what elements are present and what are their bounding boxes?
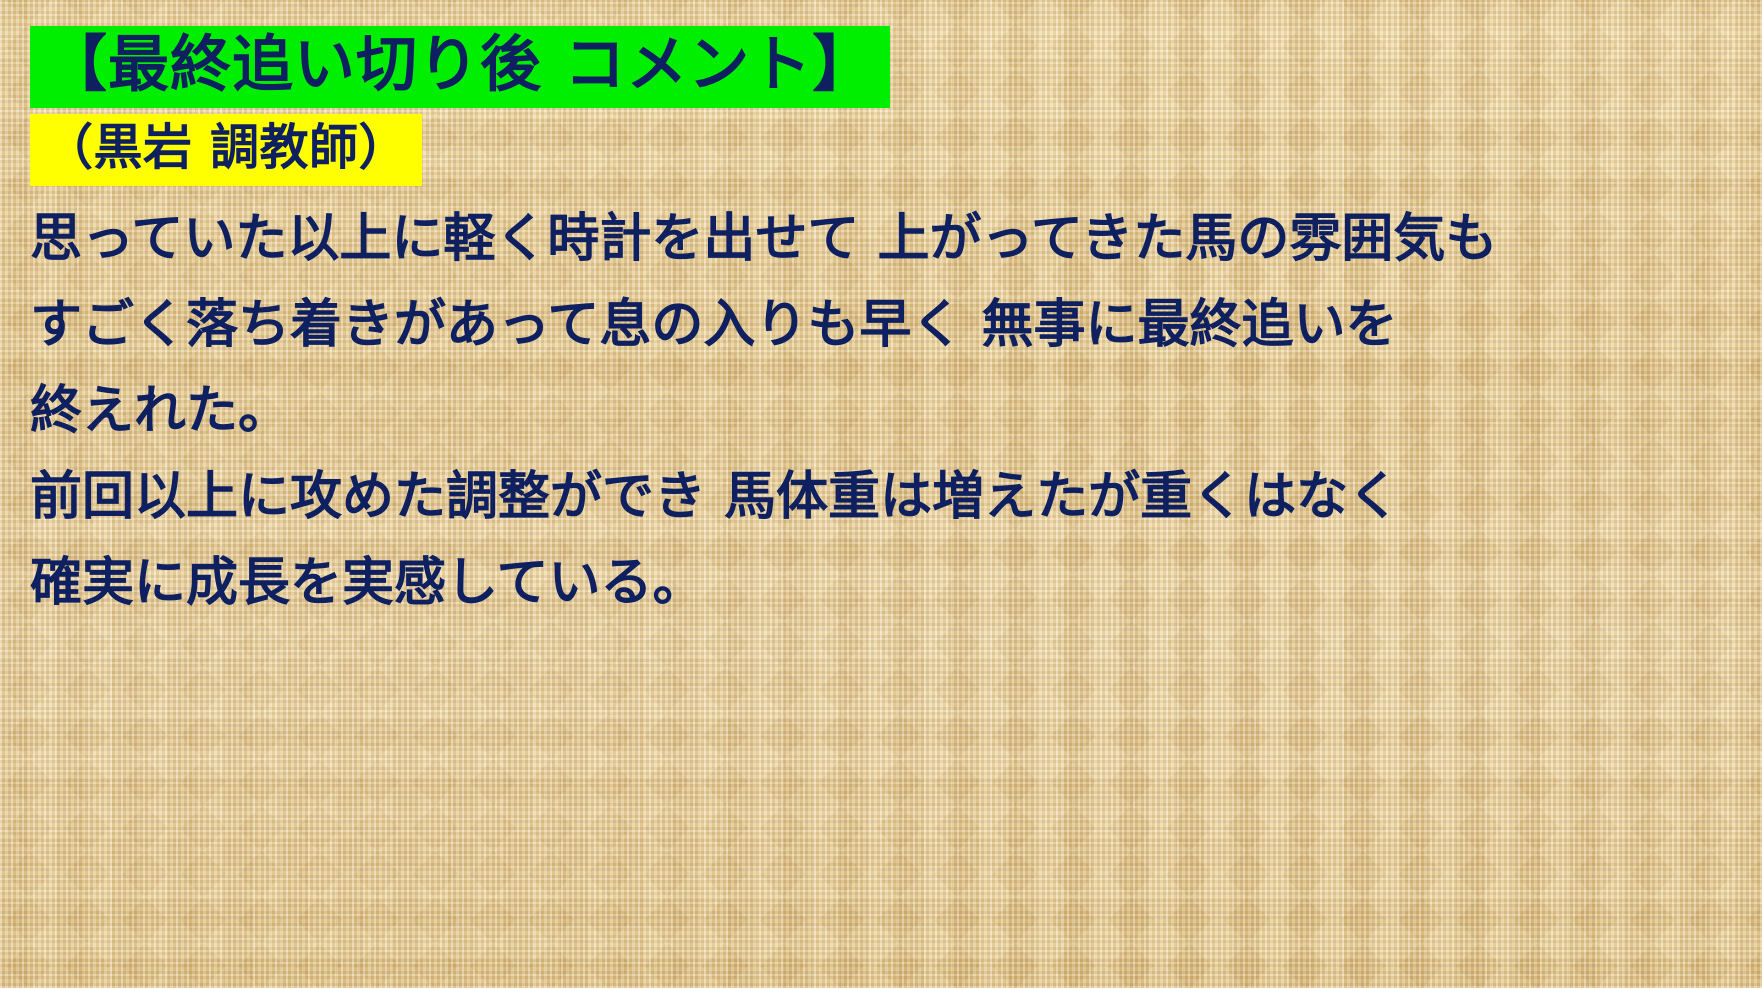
- comment-line-2: すごく落ち着きがあって息の入りも早く 無事に最終追いを: [30, 282, 1762, 368]
- comment-line-4: 前回以上に攻めた調整ができ 馬体重は増えたが重くはなく: [30, 454, 1762, 540]
- trainer-name-label: （黒岩 調教師）: [30, 114, 422, 185]
- subtitle-row: （黒岩 調教師）: [30, 114, 1762, 185]
- title-row: 【最終追い切り後 コメント】: [30, 26, 1762, 108]
- comment-line-5: 確実に成長を実感している。: [30, 540, 1762, 626]
- slide-content: 【最終追い切り後 コメント】 （黒岩 調教師） 思っていた以上に軽く時計を出せて…: [0, 0, 1762, 626]
- comment-line-1: 思っていた以上に軽く時計を出せて 上がってきた馬の雰囲気も: [30, 196, 1762, 282]
- comment-line-3: 終えれた。: [30, 368, 1762, 454]
- comment-body: 思っていた以上に軽く時計を出せて 上がってきた馬の雰囲気も すごく落ち着きがあっ…: [30, 196, 1762, 626]
- slide-canvas: 【最終追い切り後 コメント】 （黒岩 調教師） 思っていた以上に軽く時計を出せて…: [0, 0, 1762, 988]
- slide-title: 【最終追い切り後 コメント】: [30, 26, 890, 108]
